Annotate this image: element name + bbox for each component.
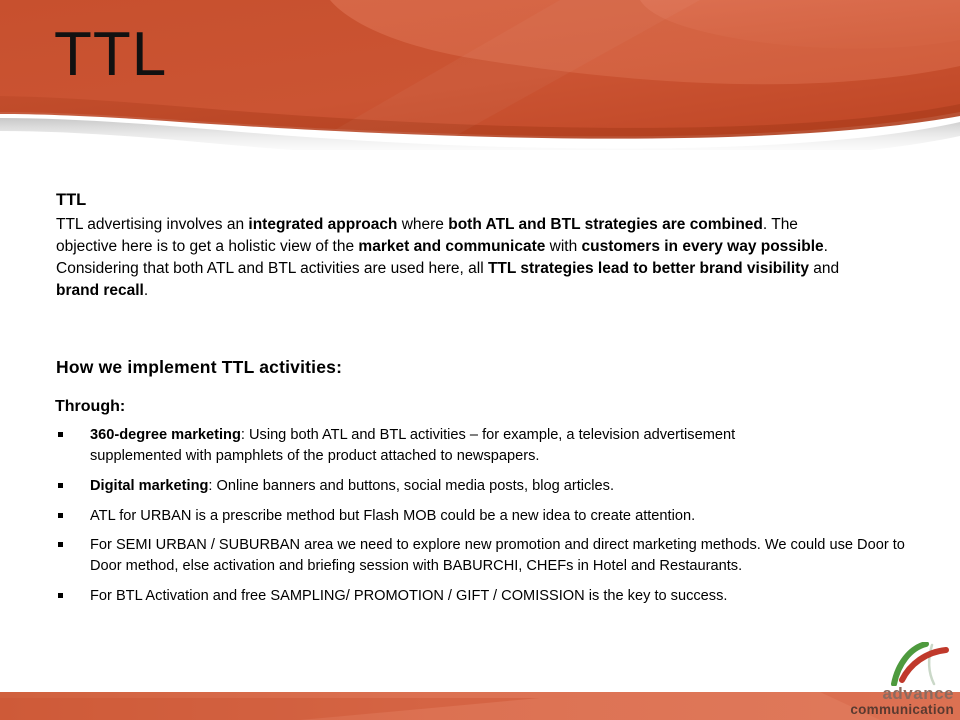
list-item: ATL for URBAN is a prescribe method but … bbox=[50, 506, 940, 527]
bullet-text-2: ATL for URBAN is a prescribe method but … bbox=[90, 508, 695, 524]
bullet-square-icon bbox=[58, 432, 63, 437]
paragraph-run-2: where bbox=[397, 216, 448, 233]
logo-mark-icon bbox=[888, 642, 950, 686]
section-heading: TTL bbox=[56, 190, 886, 211]
logo-text: advance communication bbox=[850, 685, 954, 717]
bullet-text-4: For BTL Activation and free SAMPLING/ PR… bbox=[90, 588, 727, 604]
bullet-square-icon bbox=[58, 513, 63, 518]
paragraph-run-9: TTL strategies lead to better brand visi… bbox=[488, 260, 809, 277]
bullet-text-1: : Online banners and buttons, social med… bbox=[208, 478, 614, 494]
footer-decoration-svg bbox=[0, 692, 960, 720]
intro-paragraph: TTL advertising involves an integrated a… bbox=[56, 214, 846, 302]
bullet-square-icon bbox=[58, 483, 63, 488]
intro-block: TTL TTL advertising involves an integrat… bbox=[56, 190, 886, 302]
list-item: Digital marketing: Online banners and bu… bbox=[50, 476, 940, 497]
bullet-subtext-0: supplemented with pamphlets of the produ… bbox=[90, 446, 940, 467]
list-item: For SEMI URBAN / SUBURBAN area we need t… bbox=[50, 535, 940, 577]
list-item: 360-degree marketing: Using both ATL and… bbox=[50, 425, 940, 467]
bullet-text-0: : Using both ATL and BTL activities – fo… bbox=[241, 427, 735, 443]
list-item: For BTL Activation and free SAMPLING/ PR… bbox=[50, 586, 940, 607]
bullet-text-3: For SEMI URBAN / SUBURBAN area we need t… bbox=[90, 537, 905, 574]
paragraph-run-11: brand recall bbox=[56, 282, 144, 299]
paragraph-run-1: integrated approach bbox=[248, 216, 397, 233]
bullet-square-icon bbox=[58, 542, 63, 547]
logo-word-communication: communication bbox=[850, 703, 954, 717]
paragraph-run-7: customers in every way possible bbox=[582, 238, 824, 255]
page-title: TTL bbox=[54, 24, 167, 86]
footer-bar bbox=[0, 692, 960, 720]
logo: advance communication bbox=[850, 642, 954, 718]
header-banner: TTL bbox=[0, 0, 960, 150]
paragraph-run-5: market and communicate bbox=[358, 238, 545, 255]
paragraph-run-12: . bbox=[144, 282, 148, 299]
logo-word-advance: advance bbox=[850, 685, 954, 702]
bullet-lead-0: 360-degree marketing bbox=[90, 427, 241, 443]
through-label: Through: bbox=[55, 398, 125, 416]
paragraph-run-0: TTL advertising involves an bbox=[56, 216, 248, 233]
slide: TTL TTL TTL advertising involves an inte… bbox=[0, 0, 960, 720]
bullet-lead-1: Digital marketing bbox=[90, 478, 208, 494]
paragraph-run-6: with bbox=[545, 238, 581, 255]
paragraph-run-3: both ATL and BTL strategies are combined bbox=[448, 216, 763, 233]
bullet-list: 360-degree marketing: Using both ATL and… bbox=[50, 425, 940, 616]
paragraph-run-10: and bbox=[809, 260, 839, 277]
how-heading: How we implement TTL activities: bbox=[56, 357, 342, 378]
bullet-square-icon bbox=[58, 593, 63, 598]
